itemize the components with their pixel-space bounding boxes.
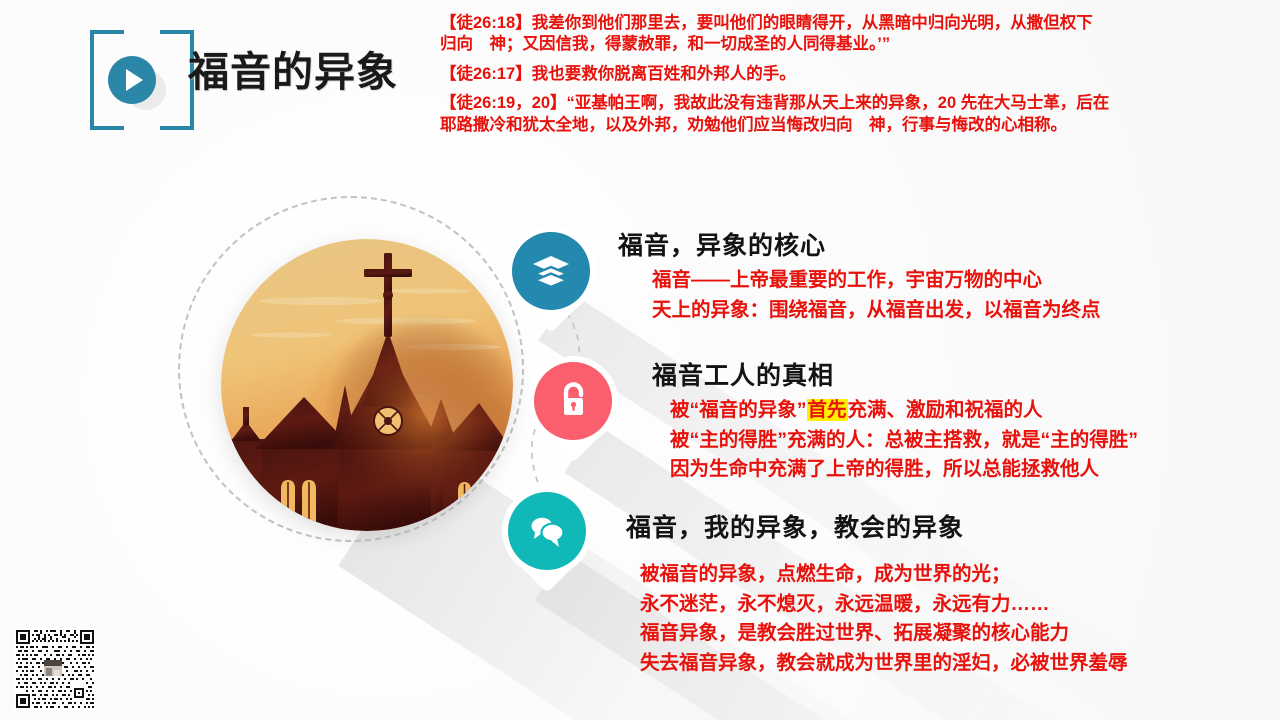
section-line: 天上的异象：围绕福音，从福音出发，以福音为终点 — [652, 296, 1101, 326]
section-line: 永不迷茫，永不熄灭，永远温暖，永远有力…… — [640, 590, 1128, 620]
frame-edge-left — [90, 30, 94, 130]
line-part: 被“福音的异象” — [670, 399, 807, 421]
play-button-icon[interactable] — [108, 56, 156, 104]
qr-code[interactable] — [14, 628, 96, 710]
section-heading: 福音，我的异象，教会的异象 — [626, 508, 1128, 544]
section-body: 被福音的异象，点燃生命，成为世界的光； 永不迷茫，永不熄灭，永远温暖，永远有力…… — [626, 548, 1128, 679]
sidebar-item-my-vision-church-vision[interactable] — [508, 492, 586, 570]
slide-canvas: 福音的异象 【徒26:18】我差你到他们那里去，要叫他们的眼睛得开，从黑暗中归向… — [0, 0, 1280, 720]
section-line: 被福音的异象，点燃生命，成为世界的光； — [640, 560, 1128, 590]
section-line: 福音——上帝最重要的工作，宇宙万物的中心 — [652, 266, 1101, 296]
section-body: 福音——上帝最重要的工作，宇宙万物的中心 天上的异象：围绕福音，从福音出发，以福… — [618, 266, 1101, 325]
sidebar-item-gospel-core[interactable] — [512, 232, 590, 310]
scripture-block: 【徒26:18】我差你到他们那里去，要叫他们的眼睛得开，从黑暗中归向光明，从撒但… — [440, 12, 1270, 143]
section-line: 因为生命中充满了上帝的得胜，所以总能拯救他人 — [670, 455, 1138, 485]
highlight-text: 首先 — [807, 399, 848, 421]
scripture-line: 【徒26:18】我差你到他们那里去，要叫他们的眼睛得开，从黑暗中归向光明，从撒但… — [440, 12, 1270, 35]
scripture-line: 耶路撒冷和犹太全地，以及外邦，劝勉他们应当悔改归向 神，行事与悔改的心相称。 — [440, 114, 1270, 137]
church-sunset-photo — [221, 239, 513, 531]
scripture-line: 【徒26:17】我也要救你脱离百姓和外邦人的手。 — [440, 63, 1270, 86]
frame-edge-bottom-left — [90, 126, 124, 130]
section-my-vision-church-vision: 福音，我的异象，教会的异象 被福音的异象，点燃生命，成为世界的光； 永不迷茫，永… — [626, 508, 1128, 679]
layers-icon — [512, 232, 590, 310]
section-heading: 福音工人的真相 — [652, 356, 1138, 392]
chat-bubbles-icon — [508, 492, 586, 570]
section-line: 失去福音异象，教会就成为世界里的淫妇，必被世界羞辱 — [640, 649, 1128, 679]
frame-edge-top-right — [160, 30, 194, 34]
logo-frame — [90, 30, 194, 130]
scripture-line: 归向 神；又因信我，得蒙赦罪，和一切成圣的人同得基业。’” — [440, 33, 1270, 56]
section-body: 被“福音的异象”首先充满、激励和祝福的人 被“主的得胜”充满的人：总被主搭救，就… — [652, 396, 1138, 485]
section-line-highlighted: 被“福音的异象”首先充满、激励和祝福的人 — [670, 396, 1138, 426]
section-line: 福音异象，是教会胜过世界、拓展凝聚的核心能力 — [640, 619, 1128, 649]
section-line: 被“主的得胜”充满的人：总被主搭救，就是“主的得胜” — [670, 426, 1138, 456]
section-gospel-core: 福音，异象的核心 福音——上帝最重要的工作，宇宙万物的中心 天上的异象：围绕福音… — [618, 226, 1101, 325]
section-heading: 福音，异象的核心 — [618, 226, 1101, 262]
section-gospel-worker-truth: 福音工人的真相 被“福音的异象”首先充满、激励和祝福的人 被“主的得胜”充满的人… — [652, 356, 1138, 485]
page-title: 福音的异象 — [188, 38, 398, 98]
unlock-icon — [534, 362, 612, 440]
frame-edge-bottom-right — [160, 126, 194, 130]
sidebar-item-gospel-worker-truth[interactable] — [534, 362, 612, 440]
scripture-line: 【徒26:19，20】“亚基帕王啊，我故此没有违背那从天上来的异象，20 先在大… — [440, 92, 1270, 115]
frame-edge-top-left — [90, 30, 124, 34]
line-part: 充满、激励和祝福的人 — [848, 399, 1043, 421]
